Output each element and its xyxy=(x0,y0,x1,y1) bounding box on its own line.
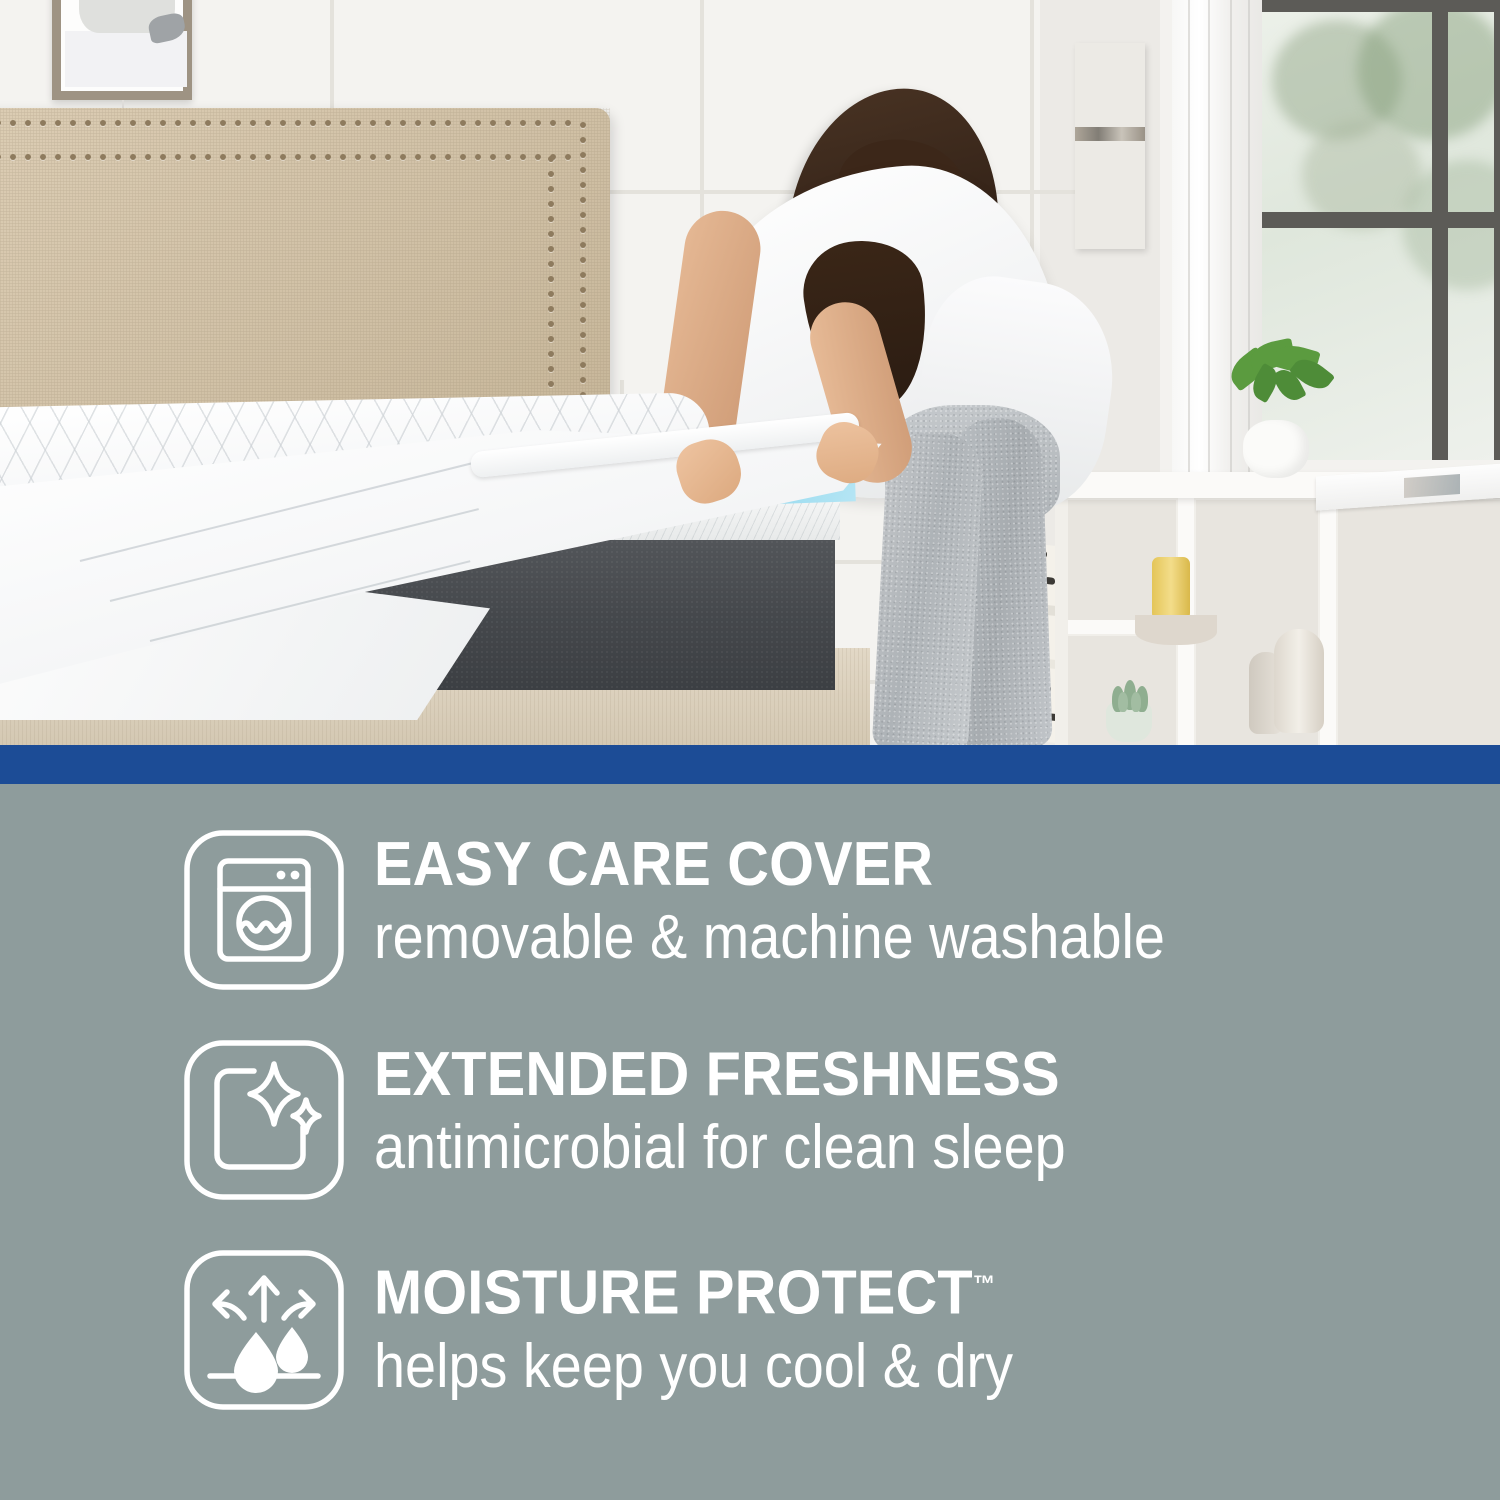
feature-row-extended-freshness: EXTENDED FRESHNESS antimicrobial for cle… xyxy=(182,1038,1143,1202)
moisture-droplets-arrows-icon xyxy=(182,1248,346,1412)
mattress-sparkle-icon xyxy=(182,1038,346,1202)
ceramic-bowl xyxy=(1135,615,1217,645)
feature-text: MOISTURE PROTECT™ helps keep you cool & … xyxy=(374,1248,1084,1403)
nailhead-trim-row xyxy=(0,120,571,128)
feature-title-text: MOISTURE PROTECT xyxy=(374,1259,973,1328)
yellow-vase xyxy=(1152,557,1190,623)
feature-subtitle: helps keep you cool & dry xyxy=(374,1331,1013,1403)
product-lifestyle-photo xyxy=(0,0,1500,745)
wall-art-canvas xyxy=(1075,43,1145,249)
feature-text: EXTENDED FRESHNESS antimicrobial for cle… xyxy=(374,1038,1143,1184)
feature-title: MOISTURE PROTECT™ xyxy=(374,1254,1034,1325)
nailhead-trim-row xyxy=(0,154,571,162)
feature-row-easy-care-cover: EASY CARE COVER removable & machine wash… xyxy=(182,828,1253,992)
blue-divider-bar xyxy=(0,745,1500,784)
washing-machine-icon xyxy=(182,828,346,992)
feature-title: EXTENDED FRESHNESS xyxy=(374,1044,1089,1106)
cream-vase-large xyxy=(1274,629,1324,733)
shelf-cell xyxy=(1338,500,1500,745)
plant-pot xyxy=(1243,420,1309,478)
magazine-photo xyxy=(1404,474,1460,498)
framed-artwork xyxy=(52,0,192,100)
feature-subtitle: antimicrobial for clean sleep xyxy=(374,1112,1066,1184)
feature-title: EASY CARE COVER xyxy=(374,834,1191,896)
succulent-pot xyxy=(1106,702,1152,742)
trademark-symbol: ™ xyxy=(973,1271,996,1298)
feature-list: EASY CARE COVER removable & machine wash… xyxy=(0,784,1500,1500)
feature-subtitle: removable & machine washable xyxy=(374,902,1165,974)
feature-row-moisture-protect: MOISTURE PROTECT™ helps keep you cool & … xyxy=(182,1248,1084,1412)
product-feature-graphic: EASY CARE COVER removable & machine wash… xyxy=(0,0,1500,1500)
feature-text: EASY CARE COVER removable & machine wash… xyxy=(374,828,1253,974)
